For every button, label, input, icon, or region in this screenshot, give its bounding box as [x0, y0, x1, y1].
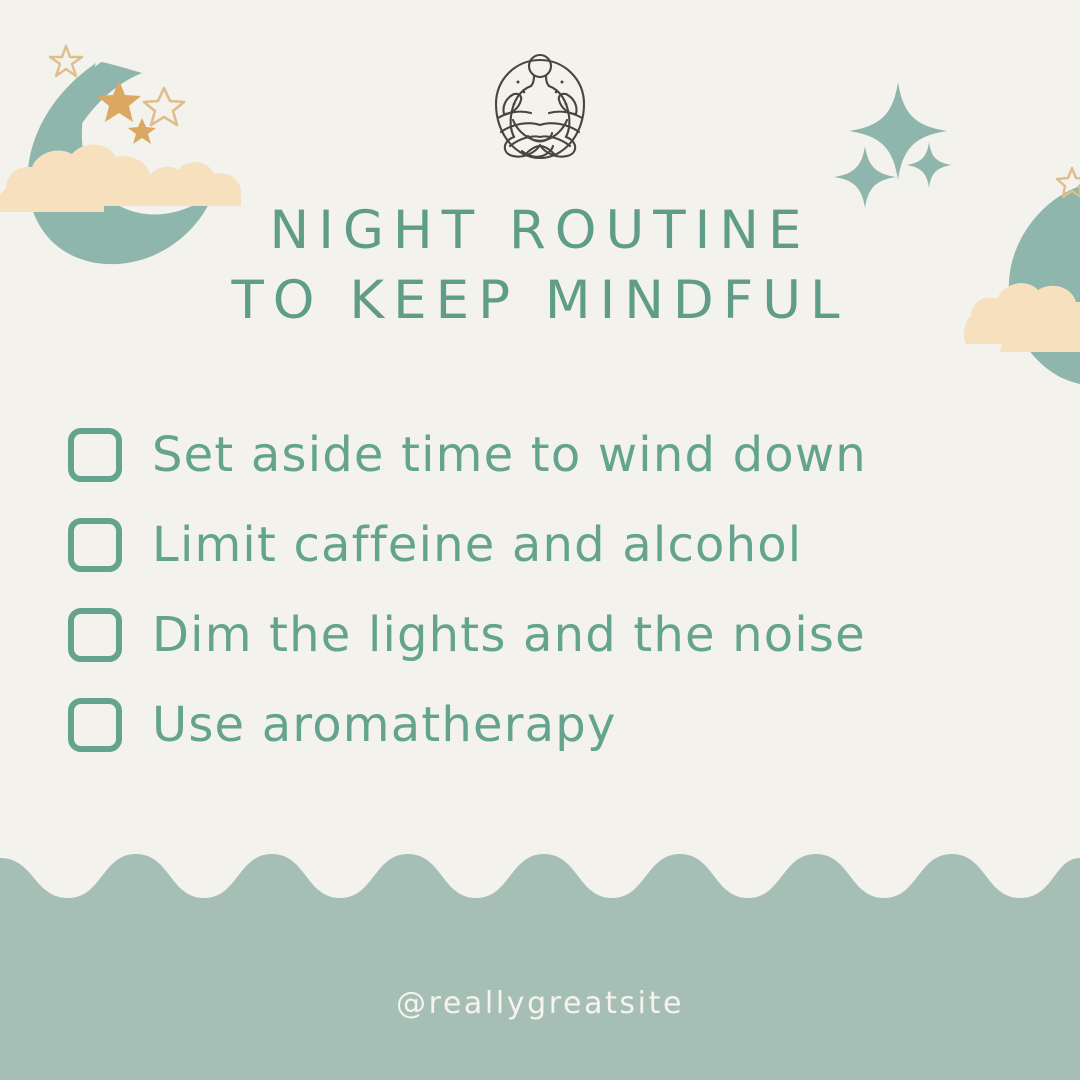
meditation-lotus-emblem-icon: [484, 48, 596, 170]
footer-handle: @reallygreatsite: [0, 986, 1080, 1022]
title-line-1: NIGHT ROUTINE: [0, 196, 1080, 266]
checklist-item[interactable]: Set aside time to wind down: [68, 410, 1028, 500]
checklist-item[interactable]: Dim the lights and the noise: [68, 590, 1028, 680]
checklist-item[interactable]: Use aromatherapy: [68, 680, 1028, 770]
checkbox-icon-2[interactable]: [68, 518, 122, 572]
checklist: Set aside time to wind down Limit caffei…: [68, 410, 1028, 770]
brand-logo: [0, 48, 1080, 170]
star-icon-outline-edge: [1057, 168, 1080, 197]
checklist-item-label-2: Limit caffeine and alcohol: [152, 518, 802, 572]
checklist-item[interactable]: Limit caffeine and alcohol: [68, 500, 1028, 590]
checklist-item-label-1: Set aside time to wind down: [152, 428, 867, 482]
page-title: NIGHT ROUTINE TO KEEP MINDFUL: [0, 196, 1080, 336]
title-line-2: TO KEEP MINDFUL: [0, 266, 1080, 336]
checklist-item-label-4: Use aromatherapy: [152, 698, 617, 752]
logo-head: [529, 55, 551, 77]
checkbox-icon-4[interactable]: [68, 698, 122, 752]
checklist-item-label-3: Dim the lights and the noise: [152, 608, 866, 662]
checkbox-icon-3[interactable]: [68, 608, 122, 662]
logo-circle-frame: [496, 60, 584, 158]
poster-canvas: NIGHT ROUTINE TO KEEP MINDFUL Set aside …: [0, 0, 1080, 1080]
wave-band-shape: [0, 854, 1080, 1080]
checkbox-icon-1[interactable]: [68, 428, 122, 482]
